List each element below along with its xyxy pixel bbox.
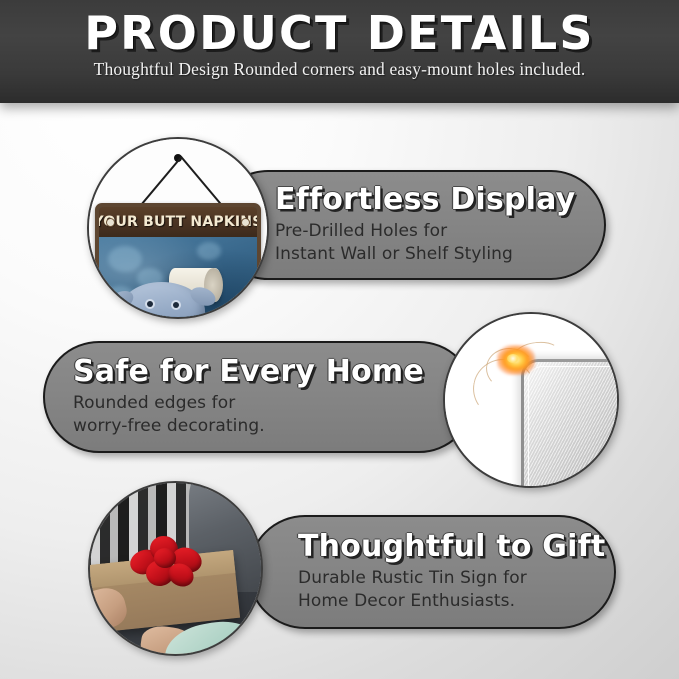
feature-3-title: Thoughtful to Gift: [298, 531, 600, 562]
feature-2-image-circle: [443, 312, 619, 488]
header-banner: PRODUCT DETAILS Thoughtful Design Rounde…: [0, 0, 679, 103]
feature-1-text-pill: Effortless Display Pre-Drilled Holes for…: [213, 170, 606, 280]
sign-text: YOUR BUTT NAPKINS: [95, 214, 261, 230]
feature-1-title: Effortless Display: [275, 184, 590, 215]
red-ribbon-bow: [128, 534, 206, 592]
feature-3-text-pill: Thoughtful to Gift Durable Rustic Tin Si…: [248, 515, 616, 629]
feature-3-image-circle: [88, 481, 263, 656]
product-details-infographic: PRODUCT DETAILS Thoughtful Design Rounde…: [0, 0, 679, 679]
page-title: PRODUCT DETAILS: [0, 6, 679, 60]
metal-sign-corner: [521, 359, 619, 488]
feature-2-title: Safe for Every Home: [73, 356, 403, 387]
metal-bevel-highlight: [528, 366, 619, 488]
header-subtitle: Thoughtful Design Rounded corners and ea…: [0, 59, 679, 80]
feature-2-text-pill: Safe for Every Home Rounded edges for wo…: [43, 341, 475, 453]
feature-3-desc-line-1: Durable Rustic Tin Sign for: [298, 567, 600, 590]
feature-2-desc-line-2: worry-free decorating.: [73, 415, 403, 438]
spark-core-icon: [507, 354, 519, 363]
tin-sign: YOUR BUTT NAPKINS: [95, 203, 261, 319]
feature-1-desc-line-1: Pre-Drilled Holes for: [275, 220, 590, 243]
mount-hole-left: [106, 218, 115, 227]
mount-hole-right: [241, 218, 250, 227]
sign-artwork: [99, 237, 257, 319]
feature-3-desc-line-2: Home Decor Enthusiasts.: [298, 590, 600, 613]
feature-1-image-circle: YOUR BUTT NAPKINS: [87, 137, 269, 319]
feature-1-desc-line-2: Instant Wall or Shelf Styling: [275, 243, 590, 266]
sign-title-band: YOUR BUTT NAPKINS: [99, 207, 257, 237]
feature-2-desc-line-1: Rounded edges for: [73, 392, 403, 415]
